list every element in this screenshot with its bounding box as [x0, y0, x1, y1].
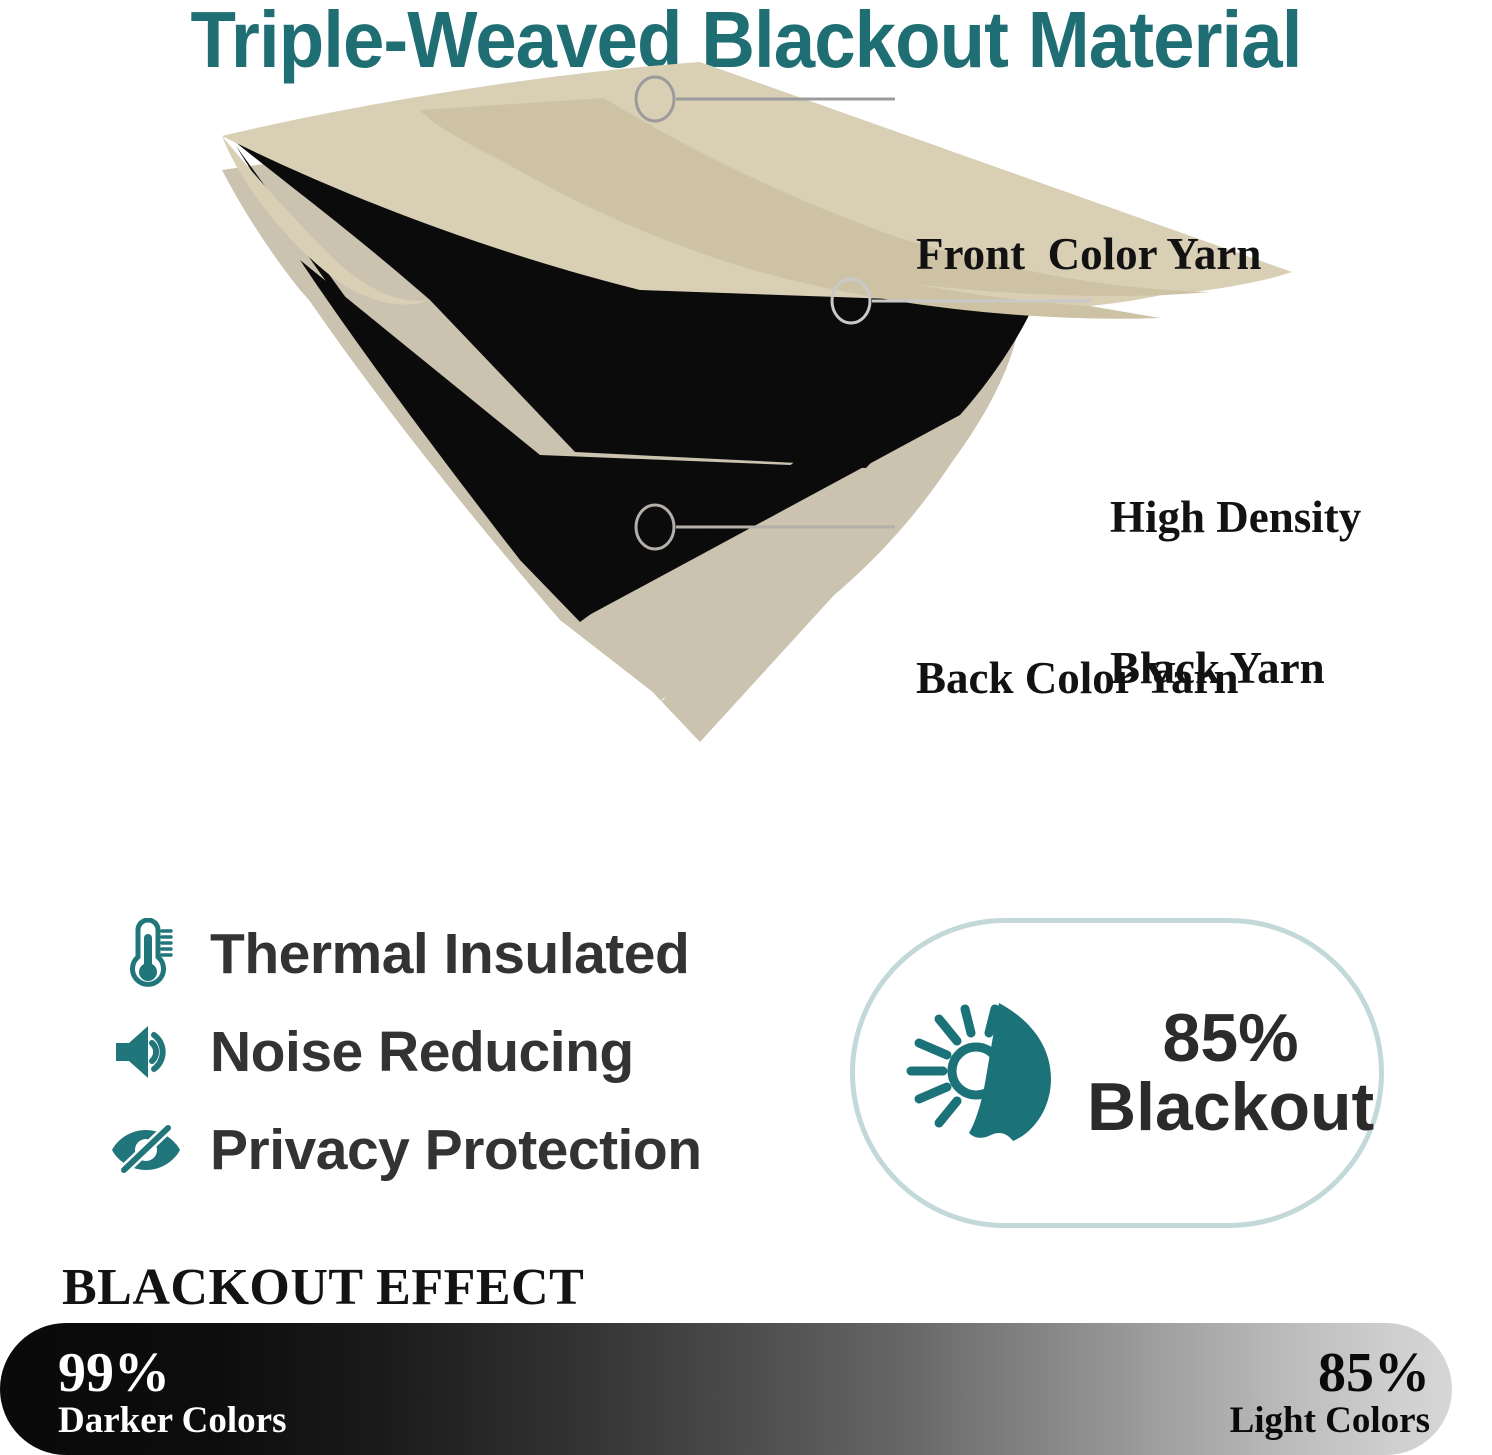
bar-stat-darker-colors: 99% Darker Colors	[58, 1345, 286, 1440]
blackout-effect-heading: BLACKOUT EFFECT	[62, 1258, 584, 1317]
badge-text-group: 85% Blackout	[1087, 1004, 1374, 1143]
feature-item-privacy-protection: Privacy Protection	[110, 1101, 770, 1199]
bar-stat-light-colors: 85% Light Colors	[1230, 1345, 1430, 1440]
callout-label-front-color-yarn: Front Color Yarn	[916, 229, 1261, 279]
bar-value: 99%	[58, 1345, 286, 1402]
feature-label: Thermal Insulated	[210, 921, 689, 987]
callout-label-line1: High Density	[1110, 492, 1361, 542]
feature-item-noise-reducing: Noise Reducing	[110, 1003, 770, 1101]
bar-caption: Light Colors	[1230, 1402, 1430, 1440]
blackout-percentage-badge: 85% Blackout	[850, 918, 1384, 1228]
bar-value: 85%	[1230, 1345, 1430, 1402]
sun-blackout-icon	[903, 983, 1063, 1163]
features-list: Thermal Insulated Noise Reducing	[110, 905, 770, 1199]
eye-off-icon	[110, 1112, 182, 1188]
thermometer-icon	[110, 916, 182, 992]
speaker-volume-icon	[110, 1014, 182, 1090]
callout-label-back-color-yarn: Back Color Yarn	[916, 653, 1239, 703]
feature-label: Privacy Protection	[210, 1117, 702, 1183]
badge-percent: 85%	[1087, 1004, 1374, 1073]
bar-caption: Darker Colors	[58, 1402, 286, 1440]
feature-label: Noise Reducing	[210, 1019, 634, 1085]
badge-word: Blackout	[1087, 1073, 1374, 1142]
feature-item-thermal-insulated: Thermal Insulated	[110, 905, 770, 1003]
